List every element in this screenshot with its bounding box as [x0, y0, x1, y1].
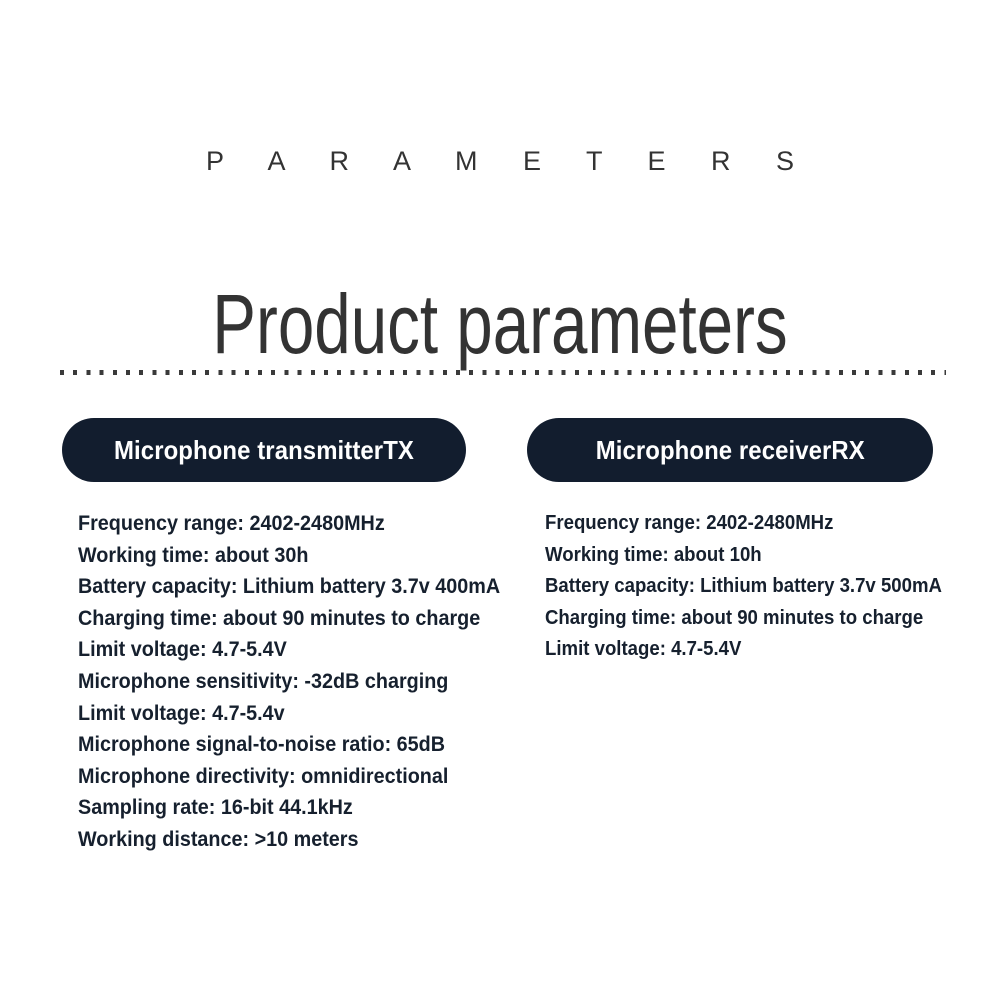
spec-item: Microphone signal-to-noise ratio: 65dB: [78, 729, 435, 761]
column-header-label: Microphone receiverRX: [595, 435, 864, 466]
spec-column-receiver: Microphone receiverRX Frequency range: 2…: [527, 418, 933, 666]
spec-item: Limit voltage: 4.7-5.4v: [78, 698, 435, 730]
page-title: Product parameters: [110, 274, 890, 374]
spec-item: Frequency range: 2402-2480MHz: [545, 508, 906, 540]
spec-item: Charging time: about 90 minutes to charg…: [78, 603, 435, 635]
column-header-receiver: Microphone receiverRX: [527, 418, 933, 482]
spec-item: Sampling rate: 16-bit 44.1kHz: [78, 792, 435, 824]
spec-item: Microphone directivity: omnidirectional: [78, 761, 435, 793]
spec-item: Working time: about 30h: [78, 540, 435, 572]
spec-item: Charging time: about 90 minutes to charg…: [545, 603, 906, 635]
spec-column-transmitter: Microphone transmitterTX Frequency range…: [62, 418, 466, 856]
product-parameters-page: P A R A M E T E R S Product parameters M…: [0, 0, 1000, 1000]
spec-item: Microphone sensitivity: -32dB charging: [78, 666, 435, 698]
spec-item: Limit voltage: 4.7-5.4V: [78, 634, 435, 666]
dotted-divider: [60, 370, 946, 375]
spec-item: Battery capacity: Lithium battery 3.7v 4…: [78, 571, 435, 603]
spec-list-transmitter: Frequency range: 2402-2480MHz Working ti…: [78, 508, 466, 856]
spec-item: Working time: about 10h: [545, 540, 906, 572]
eyebrow-title: P A R A M E T E R S: [0, 146, 1000, 177]
spec-item: Frequency range: 2402-2480MHz: [78, 508, 435, 540]
spec-item: Working distance: >10 meters: [78, 824, 435, 856]
column-header-transmitter: Microphone transmitterTX: [62, 418, 466, 482]
spec-list-receiver: Frequency range: 2402-2480MHz Working ti…: [545, 508, 933, 666]
column-header-label: Microphone transmitterTX: [114, 435, 414, 466]
spec-item: Battery capacity: Lithium battery 3.7v 5…: [545, 571, 906, 603]
spec-item: Limit voltage: 4.7-5.4V: [545, 634, 906, 666]
